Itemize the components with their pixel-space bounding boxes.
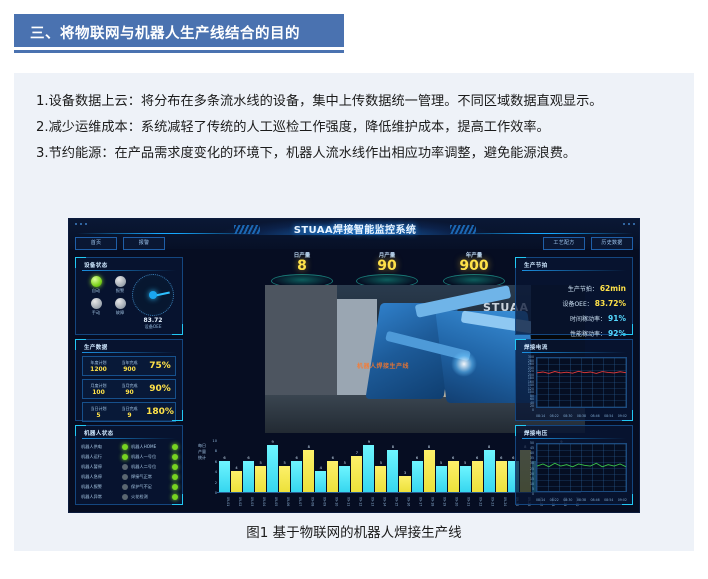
chart-x-tick: 08:22 bbox=[550, 498, 559, 502]
chart-bar-value: 3 bbox=[399, 471, 410, 475]
chart-x-tick: 09-10 bbox=[327, 495, 338, 508]
paragraph-2: 2.减少运维成本：系统减轻了传统的人工巡检工作强度，降低维护成本，提高工作效率。 bbox=[36, 115, 672, 140]
production-row: 年度计划 1200 当年完成 900 75% bbox=[82, 356, 176, 376]
chart-x-tick: 08:14 bbox=[536, 414, 545, 418]
chart-voltage-y-axis: 50454035302520151050 bbox=[518, 441, 535, 492]
chart-x-tick: 09-19 bbox=[436, 495, 447, 508]
paragraph-list: 1.设备数据上云：将分布在多条流水线的设备，集中上传数据统一管理。不同区域数据直… bbox=[14, 73, 694, 166]
gauge-hub-icon bbox=[149, 291, 157, 299]
robot-status-lamp-icon bbox=[122, 474, 128, 480]
kpi-value: 90 bbox=[344, 259, 430, 274]
chart-bar: 6 bbox=[412, 461, 423, 492]
chart-x-tick: 09-11 bbox=[339, 495, 350, 508]
chart-current-line bbox=[537, 358, 626, 394]
chart-bar: 4 bbox=[231, 471, 242, 492]
device-lamp-grid: 自动 报警 手动 故障 bbox=[84, 276, 132, 320]
chart-x-tick: 08:54 bbox=[604, 498, 613, 502]
robot-status-label: 保护气不足 bbox=[131, 484, 152, 490]
chart-x-tick: 08:38 bbox=[577, 498, 586, 502]
robot-status-label: 机器人暂停 bbox=[81, 464, 102, 470]
robot-status-row: 机器人HOME bbox=[131, 442, 181, 452]
chart-x-tick: 09-12 bbox=[351, 495, 362, 508]
takt-label: 性能稼动率： bbox=[570, 331, 606, 338]
chart-bar: 8 bbox=[303, 450, 314, 492]
lamp-label: 手动 bbox=[84, 310, 108, 316]
lamp-manual: 手动 bbox=[84, 298, 108, 316]
chart-x-tick: 09-08 bbox=[303, 495, 314, 508]
lamp-alarm: 报警 bbox=[108, 276, 132, 294]
status-lamp-icon bbox=[91, 276, 102, 287]
chart-bar: 5 bbox=[375, 466, 386, 492]
panel-divider bbox=[82, 438, 176, 439]
robot-status-lamp-icon bbox=[172, 444, 178, 450]
heading-rule-bottom bbox=[14, 50, 344, 53]
chart-x-tick: 08:22 bbox=[550, 414, 559, 418]
chart-bar-value: 6 bbox=[291, 456, 302, 460]
heading-text: 三、将物联网与机器人生产线结合的目的 bbox=[30, 22, 300, 43]
kpi-value: 8 bbox=[259, 259, 345, 274]
chart-y-tick: 0 bbox=[532, 492, 534, 496]
chart-bar-value: 6 bbox=[472, 456, 483, 460]
robot-status-lamp-icon bbox=[172, 474, 178, 480]
chart-bar-value: 4 bbox=[231, 466, 242, 470]
robot-status-lamp-icon bbox=[172, 494, 178, 500]
robot-status-row: 火花检测 bbox=[131, 492, 181, 502]
robot-status-row: 机器人异常 bbox=[81, 492, 131, 502]
chart-x-tick: 09-05 bbox=[267, 495, 278, 508]
slide-page: 三、将物联网与机器人生产线结合的目的 1.设备数据上云：将分布在多条流水线的设备… bbox=[0, 0, 708, 579]
gauge-dial-icon bbox=[132, 274, 174, 316]
chart-bar-value: 6 bbox=[327, 456, 338, 460]
dashboard-screenshot: STUAA焊接智能监控系统 首页 报警 工艺配方 历史数据 设备状态 自动 报警… bbox=[68, 218, 640, 513]
status-lamp-icon bbox=[115, 298, 126, 309]
chart-bar-value: 8 bbox=[303, 445, 314, 449]
chart-current-title: 焊接电流 bbox=[524, 343, 548, 351]
chart-bar: 6 bbox=[448, 461, 459, 492]
panel-robot-status: 机器人状态 机器人供电机器人运行机器人暂停机器人急停机器人报警机器人异常 机器人… bbox=[75, 425, 183, 505]
production-percent: 90% bbox=[145, 384, 175, 394]
video-watermark: 机器人焊接生产线 bbox=[357, 361, 409, 370]
gauge-caption: 设备OEE bbox=[130, 324, 176, 330]
paragraph-1: 1.设备数据上云：将分布在多条流水线的设备，集中上传数据统一管理。不同区域数据直… bbox=[36, 89, 672, 114]
chart-x-tick: 09-24 bbox=[496, 495, 507, 508]
chart-bar: 9 bbox=[267, 445, 278, 492]
chart-bar: 8 bbox=[387, 450, 398, 492]
status-lamp-icon bbox=[115, 276, 126, 287]
production-done: 当日完成 9 bbox=[114, 406, 145, 419]
chart-bar-value: 8 bbox=[424, 445, 435, 449]
robot-status-label: 机器人急停 bbox=[81, 474, 102, 480]
chart-x-tick: 08:46 bbox=[591, 414, 600, 418]
chart-x-tick: 08:38 bbox=[577, 414, 586, 418]
chart-y-tick: 45 bbox=[530, 446, 534, 450]
chart-bar: 8 bbox=[484, 450, 495, 492]
takt-row: 性能稼动率：92% bbox=[522, 321, 626, 340]
production-plan: 当日计划 5 bbox=[83, 406, 114, 419]
robot-status-label: 机器人二号位 bbox=[131, 464, 156, 470]
chart-current-plot bbox=[536, 357, 627, 408]
chart-bar: 6 bbox=[327, 461, 338, 492]
chart-x-tick: 09-09 bbox=[315, 495, 326, 508]
chart-x-tick: 09:02 bbox=[618, 414, 627, 418]
chart-bar-value: 7 bbox=[351, 451, 362, 455]
panel-device-status: 设备状态 自动 报警 手动 故障 bbox=[75, 257, 183, 335]
chart-bar-value: 8 bbox=[387, 445, 398, 449]
chart-x-tick: 08:30 bbox=[563, 414, 572, 418]
chart-bar-value: 6 bbox=[412, 456, 423, 460]
takt-value: 92% bbox=[608, 329, 626, 338]
chart-y-tick: 40 bbox=[530, 451, 534, 455]
robot-status-lamp-icon bbox=[122, 494, 128, 500]
chart-bar: 5 bbox=[339, 466, 350, 492]
robot-status-label: 机器人供电 bbox=[81, 444, 102, 450]
kpi-yearly-output: 年产量 900 bbox=[431, 251, 517, 288]
panel-takt-title: 生产节拍 bbox=[524, 261, 548, 269]
chart-bar: 5 bbox=[460, 466, 471, 492]
chart-voltage-x-axis: 08:1408:2208:3008:3808:4608:5409:02 bbox=[536, 498, 627, 502]
chart-bar: 9 bbox=[363, 445, 374, 492]
done-value: 900 bbox=[114, 366, 145, 373]
chart-y-tick: 5 bbox=[532, 487, 534, 491]
chart-x-tick: 09-07 bbox=[291, 495, 302, 508]
lamp-fault: 故障 bbox=[108, 298, 132, 316]
robot-status-column-left: 机器人供电机器人运行机器人暂停机器人急停机器人报警机器人异常 bbox=[81, 442, 131, 502]
chart-x-tick: 09-16 bbox=[399, 495, 410, 508]
chart-bar-value: 5 bbox=[375, 461, 386, 465]
chart-voltage-title: 焊接电压 bbox=[524, 429, 548, 437]
chart-bar: 6 bbox=[291, 461, 302, 492]
chart-x-tick: 09:02 bbox=[618, 498, 627, 502]
lamp-label: 故障 bbox=[108, 310, 132, 316]
chart-ylabel: 每日产量统计 bbox=[197, 443, 207, 461]
kpi-daily-output: 日产量 8 bbox=[259, 251, 345, 288]
chart-voltage-plot bbox=[536, 443, 627, 492]
production-percent: 75% bbox=[145, 361, 175, 371]
robot-status-row: 机器人暂停 bbox=[81, 462, 131, 472]
kpi-monthly-output: 月产量 90 bbox=[344, 251, 430, 288]
robot-status-lamp-icon bbox=[122, 484, 128, 490]
panel-weld-voltage: 焊接电压 50454035302520151050 08:1408:2208:3… bbox=[515, 425, 633, 505]
panel-takt-time: 生产节拍 生产节拍：62min 设备OEE：83.72% 时间稼动率：91% 性… bbox=[515, 257, 633, 335]
chart-x-tick: 09-23 bbox=[484, 495, 495, 508]
done-value: 90 bbox=[114, 389, 145, 396]
figure-caption: 图1 基于物联网的机器人焊接生产线 bbox=[14, 521, 694, 541]
chart-x-tick: 09-21 bbox=[460, 495, 471, 508]
chart-x-tick: 09-17 bbox=[412, 495, 423, 508]
chart-y-tick: 30 bbox=[530, 461, 534, 465]
robot-status-lamp-icon bbox=[172, 464, 178, 470]
gauge-value: 83.72 bbox=[130, 317, 176, 324]
plan-value: 1200 bbox=[83, 366, 114, 373]
done-value: 9 bbox=[114, 412, 145, 419]
nav-button-home[interactable]: 首页 bbox=[75, 237, 117, 250]
chart-bar-value: 5 bbox=[279, 461, 290, 465]
chart-bar: 6 bbox=[243, 461, 254, 492]
chart-x-tick: 09-06 bbox=[279, 495, 290, 508]
chart-bar-value: 6 bbox=[219, 456, 230, 460]
robot-status-label: 焊接气正常 bbox=[131, 474, 152, 480]
panel-divider bbox=[82, 352, 176, 353]
chart-x-tick: 09-13 bbox=[363, 495, 374, 508]
video-wall-left bbox=[265, 285, 337, 395]
robot-status-row: 机器人一号位 bbox=[131, 452, 181, 462]
chart-x-tick: 09-20 bbox=[448, 495, 459, 508]
chart-y-tick: 0 bbox=[532, 408, 534, 412]
chart-y-tick: 20 bbox=[530, 472, 534, 476]
robot-status-row: 机器人运行 bbox=[81, 452, 131, 462]
chart-y-tick: 15 bbox=[530, 477, 534, 481]
robot-status-label: 机器人报警 bbox=[81, 484, 102, 490]
chart-bar: 3 bbox=[399, 476, 410, 492]
chart-bar: 5 bbox=[436, 466, 447, 492]
chart-voltage-line bbox=[537, 444, 626, 480]
chart-bar-value: 4 bbox=[315, 466, 326, 470]
production-row: 当日计划 5 当日完成 9 180% bbox=[82, 402, 176, 422]
chart-bar-value: 5 bbox=[339, 461, 350, 465]
chart-x-tick: 09-01 bbox=[219, 495, 230, 508]
robot-status-label: 机器人异常 bbox=[81, 494, 102, 500]
panel-divider bbox=[82, 270, 176, 271]
section-heading: 三、将物联网与机器人生产线结合的目的 bbox=[14, 14, 344, 53]
dashboard-title: STUAA焊接智能监控系统 bbox=[69, 221, 640, 236]
panel-robot-title: 机器人状态 bbox=[84, 429, 114, 437]
chart-x-tick: 08:14 bbox=[536, 498, 545, 502]
production-percent: 180% bbox=[145, 407, 175, 417]
nav-button-recipe[interactable]: 工艺配方 bbox=[543, 237, 585, 250]
chart-bar: 6 bbox=[496, 461, 507, 492]
robot-status-row: 机器人急停 bbox=[81, 472, 131, 482]
chart-bar-value: 6 bbox=[496, 456, 507, 460]
production-row: 月度计划 100 当月完成 90 90% bbox=[82, 379, 176, 399]
robot-status-label: 火花检测 bbox=[131, 494, 148, 500]
chart-bar: 5 bbox=[279, 466, 290, 492]
robot-status-column-right: 机器人HOME机器人一号位机器人二号位焊接气正常保护气不足火花检测 bbox=[131, 442, 181, 502]
chart-bar-value: 5 bbox=[255, 461, 266, 465]
chart-current-y-axis: 3002802602402202001801601401201008060402… bbox=[518, 355, 535, 408]
plan-value: 5 bbox=[83, 412, 114, 419]
video-weld-spark bbox=[451, 351, 477, 377]
chart-x-tick: 09-15 bbox=[387, 495, 398, 508]
status-lamp-icon bbox=[91, 298, 102, 309]
panel-divider bbox=[522, 438, 626, 439]
robot-status-lamp-icon bbox=[122, 464, 128, 470]
chart-x-tick: 09-03 bbox=[243, 495, 254, 508]
chart-bar-value: 6 bbox=[243, 456, 254, 460]
chart-bar: 5 bbox=[255, 466, 266, 492]
robot-status-lamp-icon bbox=[122, 454, 128, 460]
paragraph-3: 3.节约能源：在产品需求度变化的环境下，机器人流水线作出相应功率调整，避免能源浪… bbox=[36, 141, 672, 166]
chart-x-tick: 08:46 bbox=[591, 498, 600, 502]
robot-status-lamp-icon bbox=[122, 444, 128, 450]
lamp-auto: 自动 bbox=[84, 276, 108, 294]
chart-y-tick: 50 bbox=[530, 441, 534, 445]
chart-bar-value: 8 bbox=[484, 445, 495, 449]
robot-status-label: 机器人一号位 bbox=[131, 454, 156, 460]
kpi-value: 900 bbox=[431, 259, 517, 274]
chart-bar-value: 9 bbox=[267, 440, 278, 444]
panel-divider bbox=[522, 270, 626, 271]
lamp-label: 自动 bbox=[84, 288, 108, 294]
chart-x-tick: 09-04 bbox=[255, 495, 266, 508]
production-plan: 月度计划 100 bbox=[83, 383, 114, 396]
robot-status-row: 焊接气正常 bbox=[131, 472, 181, 482]
chart-bar: 7 bbox=[351, 456, 362, 492]
robot-status-row: 保护气不足 bbox=[131, 482, 181, 492]
oee-gauge: 83.72 设备OEE bbox=[130, 274, 176, 330]
chart-x-tick: 08:54 bbox=[604, 414, 613, 418]
panel-production-title: 生产数据 bbox=[84, 343, 108, 351]
panel-production-data: 生产数据 年度计划 1200 当年完成 900 75% 月度计划 100 bbox=[75, 339, 183, 421]
production-done: 当年完成 900 bbox=[114, 360, 145, 373]
nav-button-alarm[interactable]: 报警 bbox=[123, 237, 165, 250]
chart-bar: 8 bbox=[424, 450, 435, 492]
chart-x-tick: 09-18 bbox=[424, 495, 435, 508]
chart-x-tick: 09-22 bbox=[472, 495, 483, 508]
chart-y-tick: 10 bbox=[530, 482, 534, 486]
robot-status-lamp-icon bbox=[172, 484, 178, 490]
panel-device-status-title: 设备状态 bbox=[84, 261, 108, 269]
chart-current-x-axis: 08:1408:2208:3008:3808:4608:5409:02 bbox=[536, 414, 627, 418]
heading-bar: 三、将物联网与机器人生产线结合的目的 bbox=[14, 17, 344, 47]
plan-value: 100 bbox=[83, 389, 114, 396]
chart-y-axis: 1086420 bbox=[207, 441, 217, 493]
chart-x-tick: 09-02 bbox=[231, 495, 242, 508]
robot-status-label: 机器人HOME bbox=[131, 444, 156, 450]
robot-status-label: 机器人运行 bbox=[81, 454, 102, 460]
production-done: 当月完成 90 bbox=[114, 383, 145, 396]
panel-divider bbox=[522, 352, 626, 353]
chart-bar-value: 5 bbox=[460, 461, 471, 465]
robot-status-lamp-icon bbox=[172, 454, 178, 460]
robot-status-row: 机器人二号位 bbox=[131, 462, 181, 472]
production-plan: 年度计划 1200 bbox=[83, 360, 114, 373]
chart-bar: 4 bbox=[315, 471, 326, 492]
chart-bar: 6 bbox=[219, 461, 230, 492]
chart-bar: 6 bbox=[472, 461, 483, 492]
chart-y-tick: 35 bbox=[530, 456, 534, 460]
chart-bar-value: 5 bbox=[436, 461, 447, 465]
nav-button-history[interactable]: 历史数据 bbox=[591, 237, 633, 250]
robot-status-row: 机器人报警 bbox=[81, 482, 131, 492]
panel-weld-current: 焊接电流 30028026024022020018016014012010080… bbox=[515, 339, 633, 421]
chart-y-tick: 25 bbox=[530, 467, 534, 471]
chart-x-tick: 09-14 bbox=[375, 495, 386, 508]
chart-bar-value: 9 bbox=[363, 440, 374, 444]
chart-bar-value: 6 bbox=[448, 456, 459, 460]
robot-status-row: 机器人供电 bbox=[81, 442, 131, 452]
lamp-label: 报警 bbox=[108, 288, 132, 294]
chart-x-tick: 08:30 bbox=[563, 498, 572, 502]
